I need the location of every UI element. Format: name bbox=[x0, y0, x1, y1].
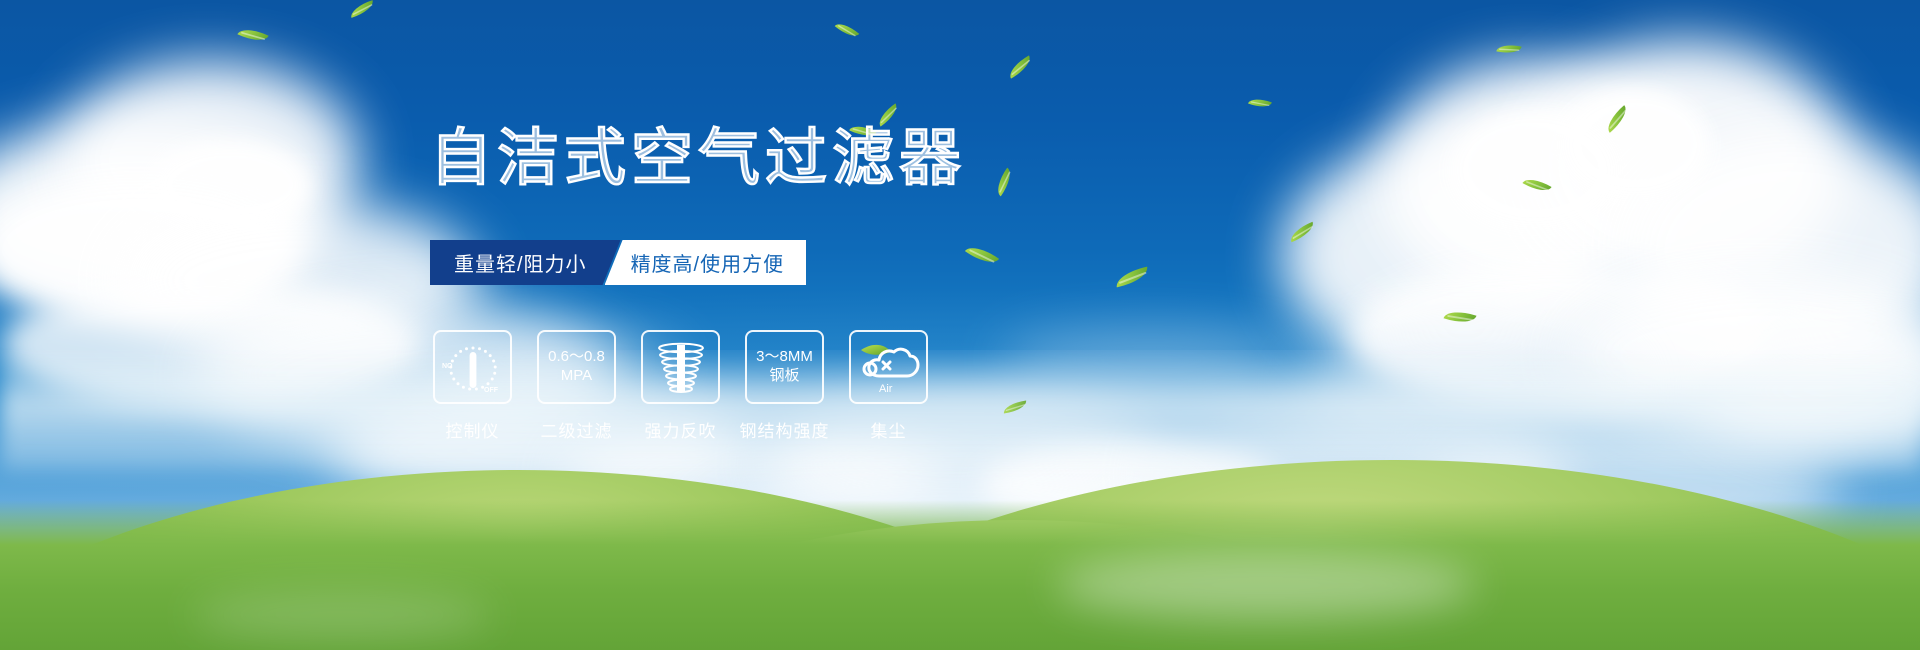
banner-stage: 自洁式空气过滤器 重量轻/阻力小 精度高/使用方便 bbox=[0, 0, 1920, 650]
badge-group: 重量轻/阻力小 精度高/使用方便 bbox=[430, 240, 806, 285]
gauge-dial-icon: NO OFF bbox=[440, 338, 506, 396]
steel-plate-text-icon: 3～8MM 钢板 bbox=[756, 348, 813, 386]
feature-label: 钢结构强度 bbox=[740, 417, 830, 442]
coil-spring-icon bbox=[653, 339, 709, 395]
feature-item-two-stage-filter[interactable]: 0.6～0.8 MPA 二级过滤 bbox=[539, 330, 614, 442]
cloud-air-icon: Air bbox=[857, 338, 921, 396]
steel-material: 钢板 bbox=[756, 367, 813, 386]
air-label: Air bbox=[879, 383, 893, 395]
feature-icon-box: 0.6～0.8 MPA bbox=[537, 330, 616, 404]
feature-label: 控制仪 bbox=[446, 417, 500, 442]
pressure-unit: MPA bbox=[548, 367, 605, 386]
pressure-text-icon: 0.6～0.8 MPA bbox=[548, 348, 605, 386]
gauge-on-label: NO bbox=[442, 363, 453, 370]
steel-thickness: 3～8MM bbox=[756, 348, 813, 367]
badge-lightweight-low-resistance: 重量轻/阻力小 bbox=[430, 240, 621, 285]
feature-icon-box: 3～8MM 钢板 bbox=[745, 330, 824, 404]
feature-icon-box: NO OFF bbox=[433, 330, 512, 404]
gauge-off-label: OFF bbox=[484, 387, 499, 394]
page-title: 自洁式空气过滤器 bbox=[430, 127, 966, 189]
feature-item-dust-collection[interactable]: Air 集尘 bbox=[851, 330, 926, 442]
pressure-range: 0.6～0.8 bbox=[548, 348, 605, 367]
feature-icon-box bbox=[641, 330, 720, 404]
feature-item-strong-backblow[interactable]: 强力反吹 bbox=[643, 330, 718, 442]
feature-label: 二级过滤 bbox=[541, 417, 613, 442]
feature-label: 集尘 bbox=[871, 417, 907, 442]
banner-content: 自洁式空气过滤器 重量轻/阻力小 精度高/使用方便 bbox=[0, 0, 1920, 650]
badge-high-precision-easy-use: 精度高/使用方便 bbox=[605, 240, 807, 285]
feature-item-controller[interactable]: NO OFF 控制仪 bbox=[435, 330, 510, 442]
feature-icon-box: Air bbox=[849, 330, 928, 404]
feature-item-steel-strength[interactable]: 3～8MM 钢板 钢结构强度 bbox=[747, 330, 822, 442]
feature-list: NO OFF 控制仪 0.6～0.8 MPA 二级过滤 bbox=[435, 330, 926, 442]
feature-label: 强力反吹 bbox=[645, 417, 717, 442]
